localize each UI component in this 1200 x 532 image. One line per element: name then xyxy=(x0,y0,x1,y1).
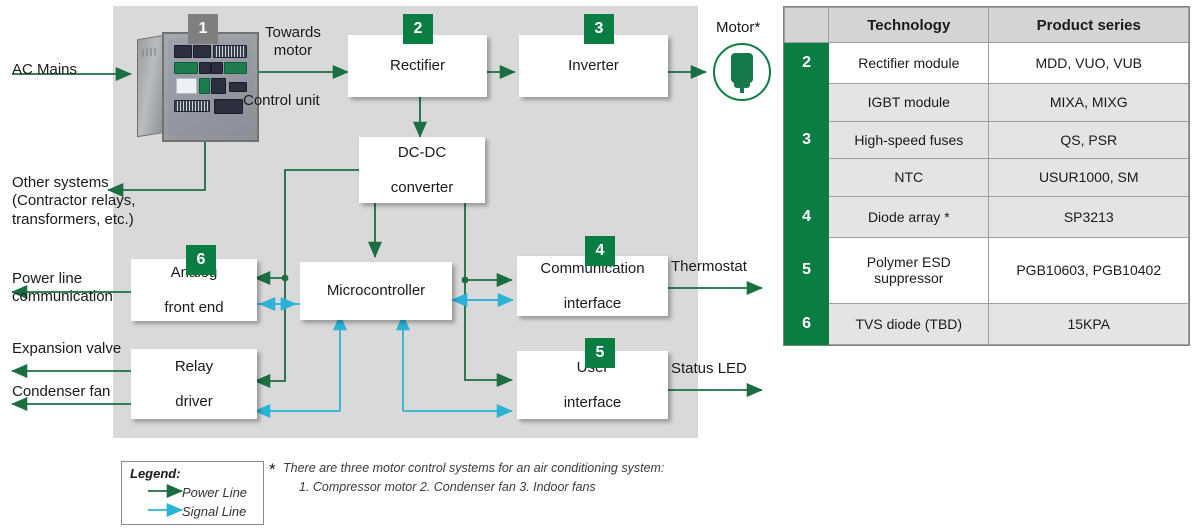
label-status-led: Status LED xyxy=(671,360,747,378)
relay-line1: Relay xyxy=(171,358,217,375)
block-inverter[interactable]: Inverter xyxy=(519,35,668,97)
label-expansion-valve: Expansion valve xyxy=(12,340,121,358)
table-row[interactable]: 4 Diode array * SP3213 xyxy=(785,196,1189,237)
table-cell-number: 6 xyxy=(785,303,829,344)
table-row[interactable]: 2 Rectifier module MDD, VUO, VUB xyxy=(785,43,1189,84)
legend-box: Legend: Power Line Signal Line xyxy=(121,461,264,525)
dcdc-line1: DC-DC xyxy=(387,144,458,161)
footnote-line-2: 1. Compressor motor 2. Condenser fan 3. … xyxy=(283,478,723,497)
legend-item-signal-line: Signal Line xyxy=(182,504,246,519)
block-dc-dc-converter[interactable]: DC-DC converter xyxy=(359,137,485,203)
block-inverter-label: Inverter xyxy=(564,57,623,74)
label-control-unit: Control unit xyxy=(243,92,320,110)
technology-table: Technology Product series 2 Rectifier mo… xyxy=(783,6,1190,346)
comm-line2: interface xyxy=(536,295,648,312)
motor-icon xyxy=(713,43,771,101)
block-relay-driver[interactable]: Relay driver xyxy=(131,349,257,419)
motor-shaft xyxy=(740,88,744,93)
cabinet-enclosure-icon xyxy=(162,32,259,142)
relay-line2: driver xyxy=(171,393,217,410)
afe-line2: front end xyxy=(160,299,227,316)
footnote-line-1: There are three motor control systems fo… xyxy=(283,459,723,478)
label-thermostat: Thermostat xyxy=(671,258,747,276)
label-condenser-fan: Condenser fan xyxy=(12,383,110,401)
table-cell-technology: NTC xyxy=(829,159,989,197)
footnote: * There are three motor control systems … xyxy=(283,459,723,497)
table-row[interactable]: NTC USUR1000, SM xyxy=(785,159,1189,197)
wire-dcdc-user-interface xyxy=(465,203,512,380)
table-cell-technology: Rectifier module xyxy=(829,43,989,84)
table-cell-technology: IGBT module xyxy=(829,84,989,122)
label-ac-mains: AC Mains xyxy=(12,61,77,79)
table-cell-product-series: SP3213 xyxy=(989,196,1189,237)
ui-line2: interface xyxy=(560,394,626,411)
badge-4: 4 xyxy=(585,236,615,266)
table-cell-number: 2 xyxy=(785,43,829,84)
table-cell-technology: Polymer ESD suppressor xyxy=(829,237,989,303)
table-cell-product-series: MDD, VUO, VUB xyxy=(989,43,1189,84)
table-row[interactable]: 5 Polymer ESD suppressor PGB10603, PGB10… xyxy=(785,237,1189,303)
table-header-product-series: Product series xyxy=(989,8,1189,43)
table-cell-product-series: MIXA, MIXG xyxy=(989,84,1189,122)
footnote-marker: * xyxy=(269,457,276,483)
label-power-line-communication: Power line communication xyxy=(12,270,113,307)
block-rectifier[interactable]: Rectifier xyxy=(348,35,487,97)
badge-1: 1 xyxy=(188,14,218,44)
badge-3: 3 xyxy=(584,14,614,44)
table-cell-number: 4 xyxy=(785,196,829,237)
diagram-root: 1 2 3 4 5 6 Rectifier Inverter DC-DC con… xyxy=(0,0,1200,532)
block-dc-dc-converter-label: DC-DC converter xyxy=(383,144,462,196)
table-cell-product-series: QS, PSR xyxy=(989,121,1189,159)
badge-2: 2 xyxy=(403,14,433,44)
block-microcontroller[interactable]: Microcontroller xyxy=(300,262,452,320)
block-microcontroller-label: Microcontroller xyxy=(323,282,429,299)
table-row[interactable]: 6 TVS diode (TBD) 15KPA xyxy=(785,303,1189,344)
table-row[interactable]: 3 IGBT module MIXA, MIXG xyxy=(785,84,1189,122)
table-cell-product-series: PGB10603, PGB10402 xyxy=(989,237,1189,303)
table-cell-product-series: 15KPA xyxy=(989,303,1189,344)
cabinet-interior xyxy=(168,38,253,136)
junction-dot-right xyxy=(462,277,469,284)
block-communication-interface-label: Communication interface xyxy=(532,260,652,312)
table-cell-technology: Diode array * xyxy=(829,196,989,237)
badge-6: 6 xyxy=(186,245,216,275)
legend-title: Legend: xyxy=(130,466,181,481)
table-cell-technology: TVS diode (TBD) xyxy=(829,303,989,344)
cabinet-door-icon xyxy=(137,35,165,137)
table-cell-technology: High-speed fuses xyxy=(829,121,989,159)
control-unit-image xyxy=(137,32,255,138)
dcdc-line2: converter xyxy=(387,179,458,196)
label-other-systems: Other systems (Contractor relays, transf… xyxy=(12,174,135,229)
table-row[interactable]: High-speed fuses QS, PSR xyxy=(785,121,1189,159)
table-cell-product-series: USUR1000, SM xyxy=(989,159,1189,197)
block-rectifier-label: Rectifier xyxy=(386,57,449,74)
table-cell-number: 3 xyxy=(785,84,829,197)
badge-5: 5 xyxy=(585,338,615,368)
junction-dot-left xyxy=(282,275,289,282)
label-motor: Motor* xyxy=(716,19,760,37)
motor-body xyxy=(731,53,753,83)
table-header-technology: Technology xyxy=(829,8,989,43)
legend-item-power-line: Power Line xyxy=(182,485,247,500)
table-cell-number: 5 xyxy=(785,237,829,303)
block-relay-driver-label: Relay driver xyxy=(167,358,221,410)
table-header-row: Technology Product series xyxy=(785,8,1189,43)
label-towards-motor: Towards motor xyxy=(265,24,321,61)
table-header-number xyxy=(785,8,829,43)
